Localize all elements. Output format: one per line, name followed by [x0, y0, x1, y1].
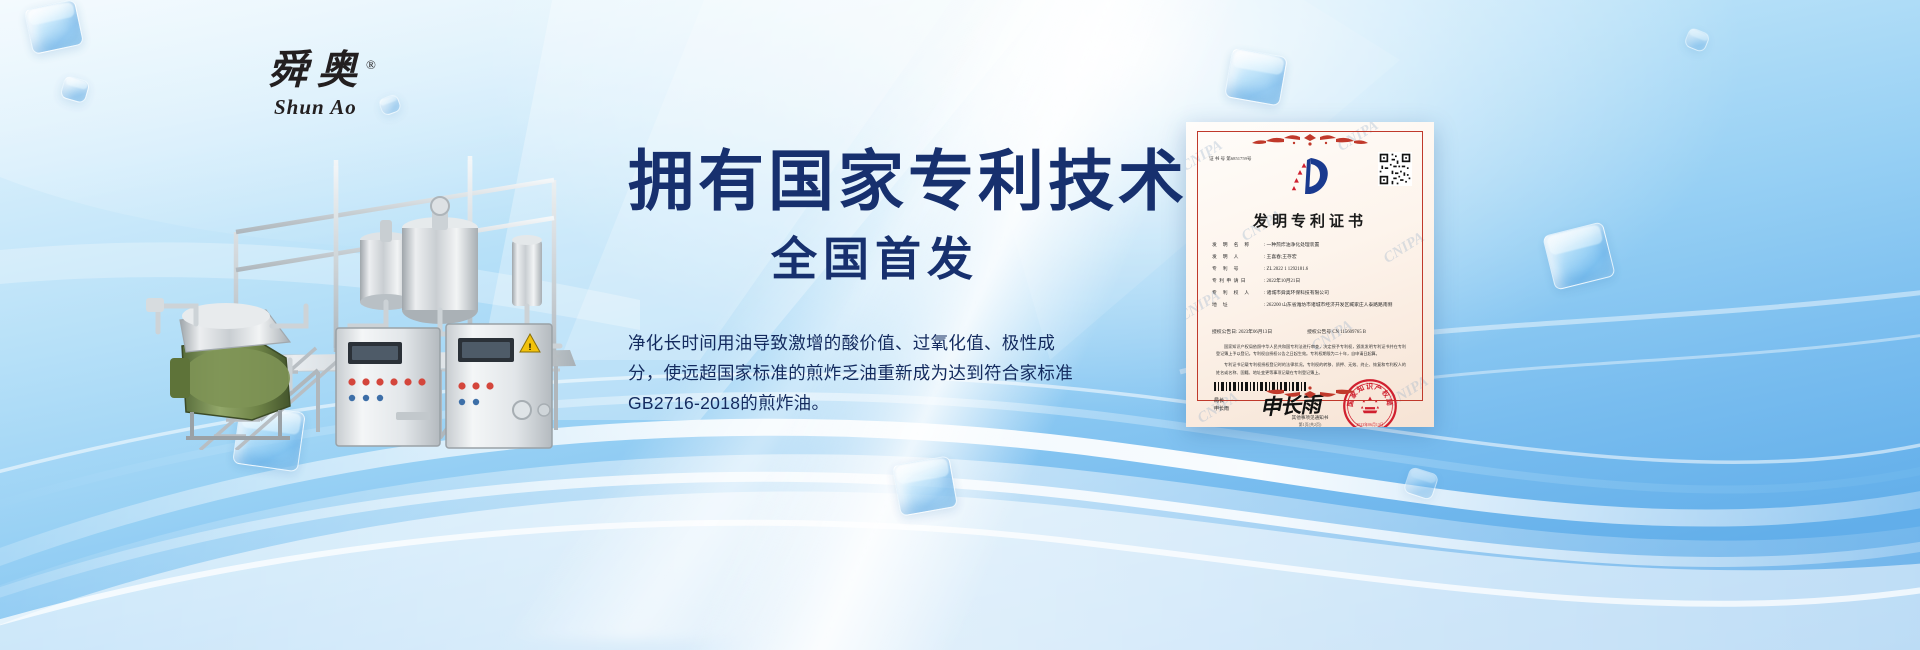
ice-cube-1	[24, 0, 84, 55]
banner-copy: 拥有国家专利技术 全国首发 净化长时间用油导致激增的酸价值、过氧化值、极性成分，…	[628, 148, 1148, 418]
ice-cube-highlight	[1409, 468, 1437, 485]
headline: 拥有国家专利技术	[628, 148, 1148, 214]
ice-cube-highlight	[27, 2, 75, 27]
brand-logo: 舜奥® Shun Ao	[268, 42, 408, 120]
ice-cube-face	[1542, 221, 1616, 290]
ice-cube-highlight	[1546, 224, 1604, 256]
certificate-field-value: : 王喜春;王存宏	[1264, 252, 1297, 264]
ice-cube-face	[24, 0, 84, 55]
certificate-field-label: 发 明 人	[1212, 252, 1264, 264]
certificate-field: 专 利 权 人: 诸城市舜奥环保科技有限公司	[1212, 288, 1410, 300]
certificate-field-value: : ZL 2022 1 1292181.6	[1264, 264, 1308, 276]
ice-cube-highlight	[1689, 28, 1710, 42]
certificate-page-note: 第1页(共2页)	[1198, 422, 1422, 427]
ice-cube-face	[1224, 48, 1288, 107]
certificate-field: 地 址: 262200 山东省潍坊市诸城市经济开发区臧家庄人泰路路南侧	[1212, 300, 1410, 312]
certificate-field-label: 发 明 名 称	[1212, 240, 1264, 252]
certificate-field-value: : 2022年10月21日	[1264, 276, 1300, 288]
certificate-field-label: 地 址	[1212, 300, 1264, 312]
ice-cube-face	[1403, 466, 1440, 501]
certificate-field-value: : 一种煎炸油净化处理装置	[1264, 240, 1319, 252]
certificate-field-label: 专 利 权 人	[1212, 288, 1264, 300]
certificate-border: 证 书 号 第6851759号	[1197, 131, 1423, 401]
ice-cube-9	[1403, 466, 1440, 501]
certificate-field: 发 明 名 称: 一种煎炸油净化处理装置	[1212, 240, 1410, 252]
certificate-number: 证 书 号 第6851759号	[1209, 156, 1252, 162]
certificate-field: 发 明 人: 王喜春;王存宏	[1212, 252, 1410, 264]
certificate-field-label: 专利申请日	[1212, 276, 1264, 288]
ice-cube-5	[1542, 221, 1616, 290]
ice-cube-8	[892, 455, 958, 516]
certificate-field: 专利申请日: 2022年10月21日	[1212, 276, 1410, 288]
description-paragraph: 净化长时间用油导致激增的酸价值、过氧化值、极性成分，使远超国家标准的煎炸乏油重新…	[628, 328, 1078, 418]
cnipa-emblem-icon	[1285, 154, 1335, 198]
certificate-body: 国家知识产权局依照中华人民共和国专利法进行审查，决定授予专利权，颁发发明专利证书…	[1216, 343, 1406, 376]
certificate-field: 专 利 号: ZL 2022 1 1292181.6	[1212, 264, 1410, 276]
ice-cube-face	[1683, 27, 1711, 54]
ice-cube-face	[892, 455, 958, 516]
certificate-director: 局长 申长雨	[1214, 398, 1229, 414]
certificate-fields: 发 明 名 称: 一种煎炸油净化处理装置发 明 人: 王喜春;王存宏专 利 号:…	[1212, 240, 1410, 312]
svg-text:!: !	[529, 342, 532, 352]
subheadline: 全国首发	[628, 236, 1148, 282]
certificate-field-label: 专 利 号	[1212, 264, 1264, 276]
brand-logo-chinese: 舜奥®	[268, 42, 408, 93]
ornament-bottom	[1250, 386, 1370, 399]
certificate-field-value: : 诸城市舜奥环保科技有限公司	[1264, 288, 1329, 300]
registered-trademark-icon: ®	[366, 57, 376, 72]
ice-cube-highlight	[896, 458, 949, 484]
ice-cube-6	[1683, 27, 1711, 54]
qr-code-icon	[1378, 152, 1412, 186]
certificate-field-value: : 262200 山东省潍坊市诸城市经济开发区臧家庄人泰路路南侧	[1264, 300, 1392, 312]
certificate-footnote: 其他事项见通知书	[1186, 415, 1434, 421]
ice-cube-highlight	[65, 76, 89, 90]
brand-logo-latin: Shun Ao	[274, 95, 408, 120]
ice-cube-highlight	[1233, 50, 1284, 75]
patent-certificate-image: CNIPA CNIPA CNIPA CNIPA CNIPA CNIPA CNIP…	[1186, 122, 1434, 427]
certificate-grant-row: 授权公告日: 2023年06月13日 授权公告号 CN 115609765 B	[1212, 328, 1410, 335]
ornament-top	[1250, 133, 1370, 146]
certificate-title: 发明专利证书	[1198, 210, 1422, 231]
ice-cube-4	[1224, 48, 1288, 107]
oil-purification-equipment-image: !	[140, 120, 620, 450]
ice-cube-2	[59, 75, 90, 104]
ice-cube-face	[59, 75, 90, 104]
promo-banner: 舜奥® Shun Ao	[0, 0, 1920, 650]
